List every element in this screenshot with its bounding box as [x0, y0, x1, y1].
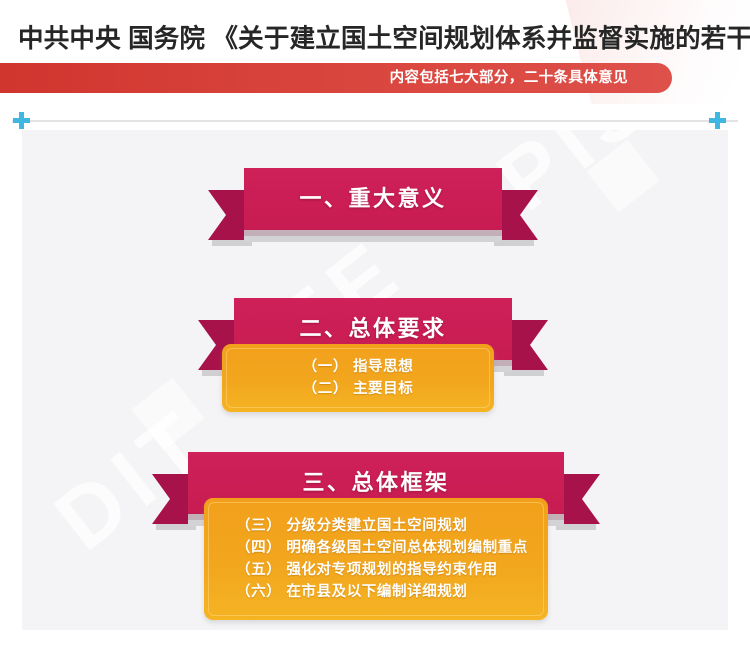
content-panel: DIT EE PIS 一、重大意义: [22, 130, 728, 630]
list-item: （一）指导思想: [244, 356, 472, 378]
list-item: （六）在市县及以下编制详细规划: [236, 581, 526, 603]
list-item: （二）主要目标: [244, 378, 472, 400]
ribbon-tail-left: [152, 474, 192, 524]
list-item-index: （二）: [303, 381, 348, 397]
plus-marker-icon-left: [13, 112, 30, 129]
divider-strip: [0, 104, 750, 130]
ribbon-tail-right: [498, 190, 538, 240]
subtitle-text: 内容包括七大部分，二十条具体意见: [390, 63, 628, 93]
section-3-list: （三）分级分类建立国土空间规划 （四）明确各级国土空间总体规划编制重点 （五）强…: [204, 515, 548, 603]
list-item: （五）强化对专项规划的指导约束作用: [236, 559, 526, 581]
divider-line: [12, 120, 738, 122]
infographic-page: 中共中央 国务院 《关于建立国土空间规划体系并监督实施的若干意见》 内容包括七大…: [0, 0, 750, 646]
ribbon-tail-left: [208, 190, 248, 240]
list-item-label: 分级分类建立国土空间规划: [286, 518, 467, 534]
page-title: 中共中央 国务院 《关于建立国土空间规划体系并监督实施的若干意见》: [18, 18, 750, 55]
ribbon-tail-right: [560, 474, 600, 524]
section-1-title: 一、重大意义: [244, 168, 502, 230]
list-item-label: 明确各级国土空间总体规划编制重点: [286, 540, 528, 556]
section-1-ribbon: 一、重大意义: [208, 168, 538, 254]
list-item-label: 在市县及以下编制详细规划: [286, 584, 467, 600]
list-item-index: （一）: [303, 359, 348, 375]
ribbon-tail-right: [508, 320, 548, 370]
list-item-index: （三）: [236, 518, 281, 534]
list-item-label: 强化对专项规划的指导约束作用: [286, 562, 497, 578]
section-1: 一、重大意义: [208, 168, 538, 254]
plus-marker-icon-right: [709, 112, 726, 129]
list-item-label: 指导思想: [353, 359, 413, 375]
section-2-list: （一）指导思想 （二）主要目标: [222, 356, 494, 400]
list-item: （三）分级分类建立国土空间规划: [236, 515, 526, 537]
header: 中共中央 国务院 《关于建立国土空间规划体系并监督实施的若干意见》 内容包括七大…: [0, 0, 750, 104]
subtitle-banner: 内容包括七大部分，二十条具体意见: [0, 63, 672, 93]
list-item-index: （四）: [236, 540, 281, 556]
section-2-listbox: （一）指导思想 （二）主要目标: [222, 344, 494, 412]
list-item-index: （六）: [236, 584, 281, 600]
section-3-listbox: （三）分级分类建立国土空间规划 （四）明确各级国土空间总体规划编制重点 （五）强…: [204, 498, 548, 620]
list-item-label: 主要目标: [353, 381, 413, 397]
list-item-index: （五）: [236, 562, 281, 578]
list-item: （四）明确各级国土空间总体规划编制重点: [236, 537, 526, 559]
